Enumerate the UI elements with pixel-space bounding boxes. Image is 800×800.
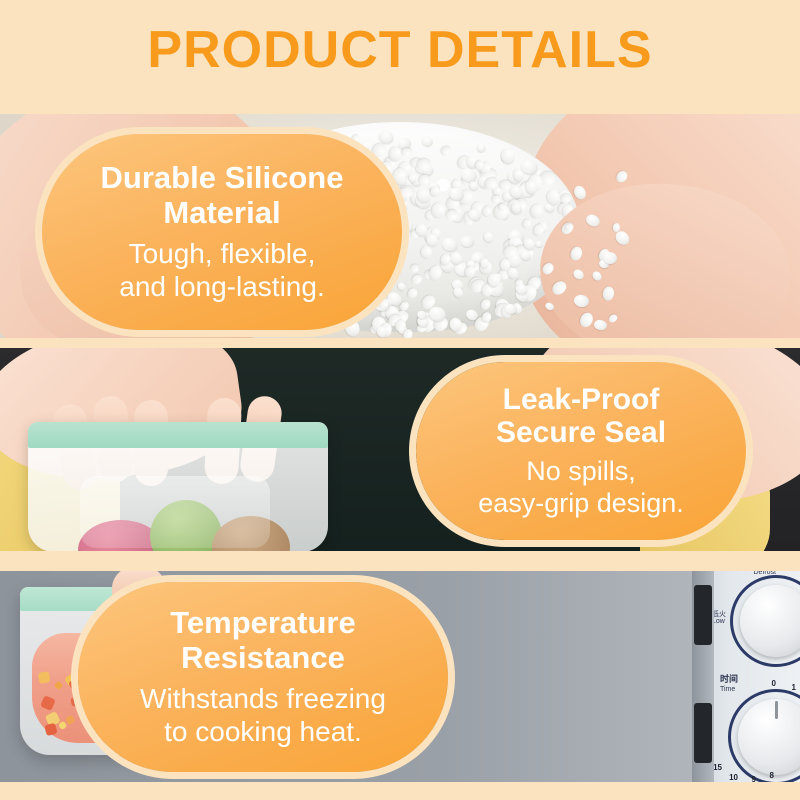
pellet — [601, 286, 615, 302]
feature-card-leak-proof[interactable]: Leak-Proof Secure Seal No spills, easy-g… — [416, 362, 746, 540]
pellet — [608, 313, 619, 323]
low-power-label: 低火 Low — [712, 611, 726, 626]
pellet — [531, 222, 547, 238]
timer-mark-0: 0 — [772, 679, 776, 688]
feature-subtext: No spills, easy-grip design. — [416, 456, 746, 520]
feature-card-durable-silicone[interactable]: Durable Silicone Material Tough, flexibl… — [42, 134, 402, 330]
feature-heading: Durable Silicone Material — [42, 161, 402, 230]
time-label: 时间 Time — [720, 675, 738, 694]
timer-pointer — [775, 701, 778, 719]
pellet — [573, 293, 590, 308]
pellet — [578, 310, 595, 329]
vegetable-bit — [44, 723, 58, 737]
defrost-label: Defrost — [753, 571, 776, 576]
bag-front-window — [80, 476, 270, 548]
feature-heading: Temperature Resistance — [78, 606, 448, 675]
pellet — [535, 240, 545, 249]
pellet — [540, 261, 555, 277]
pellet — [602, 250, 618, 264]
door-latch-upper — [694, 585, 712, 645]
pellet — [514, 278, 524, 288]
vegetable-bit — [53, 681, 63, 691]
pellet — [572, 267, 586, 281]
timer-mark-1: 1 — [792, 683, 796, 692]
pellet — [614, 169, 629, 184]
pellet — [572, 184, 588, 201]
pellet — [521, 218, 533, 231]
pellet — [591, 270, 604, 283]
pellet — [550, 279, 569, 298]
pellet — [497, 203, 508, 213]
pellet — [584, 213, 601, 229]
page-title: PRODUCT DETAILS — [0, 22, 800, 79]
pellet — [504, 303, 517, 314]
feature-card-temperature-resistance[interactable]: Temperature Resistance Withstands freezi… — [78, 582, 448, 772]
vegetable-bit — [39, 671, 51, 683]
timer-mark-8: 8 — [770, 771, 774, 780]
vegetable-bit — [40, 695, 55, 710]
feature-subtext: Withstands freezing to cooking heat. — [78, 682, 448, 748]
pellet — [593, 318, 607, 330]
pellet — [543, 301, 554, 312]
timer-mark-15: 15 — [713, 763, 722, 772]
pellet — [559, 193, 571, 203]
door-latch-lower — [694, 703, 712, 763]
feature-heading: Leak-Proof Secure Seal — [416, 383, 746, 450]
pellet — [568, 245, 584, 262]
bag-seal-strip — [28, 422, 328, 448]
pellet — [523, 179, 539, 196]
pellet — [501, 244, 519, 261]
feature-subtext: Tough, flexible, and long-lasting. — [42, 237, 402, 303]
timer-mark-9: 9 — [752, 775, 756, 782]
timer-mark-10: 10 — [729, 773, 738, 782]
